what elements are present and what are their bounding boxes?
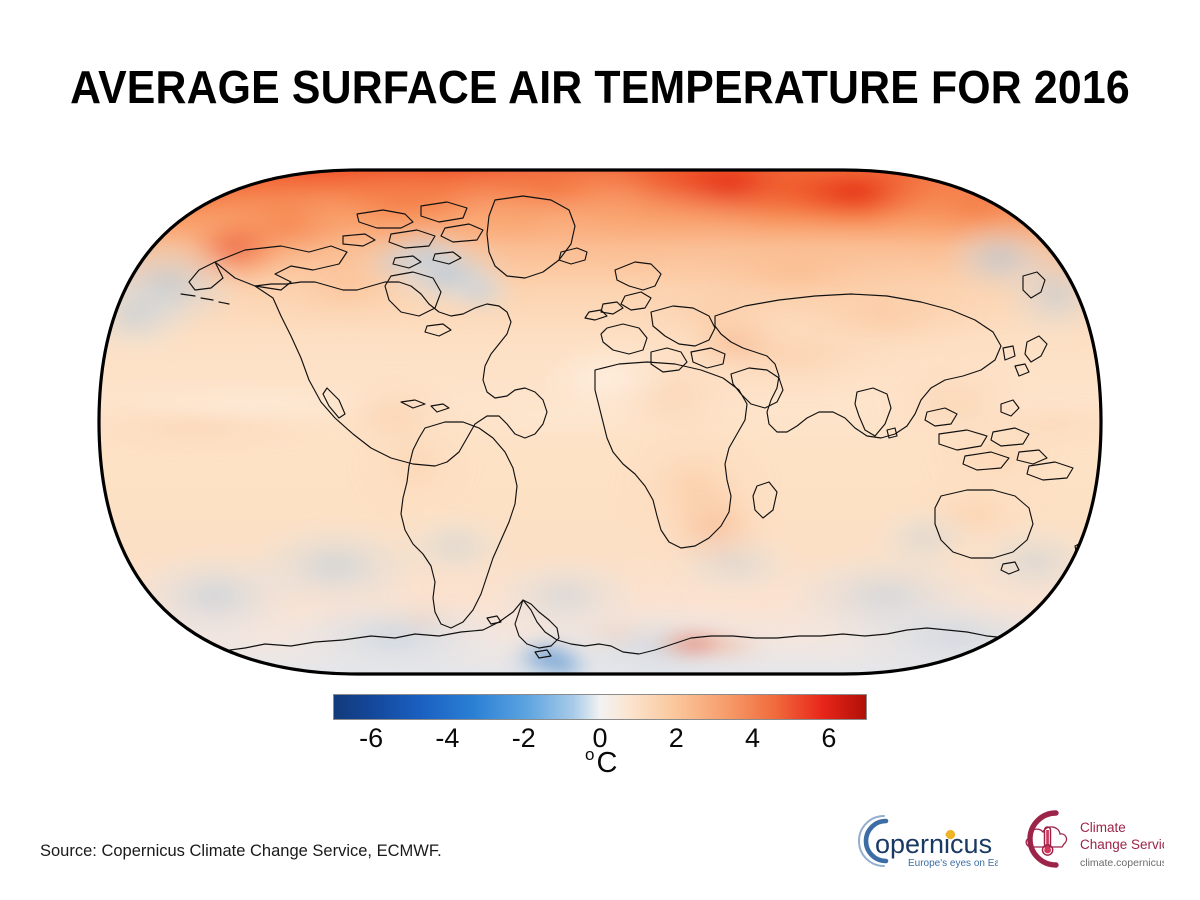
copernicus-dot-icon bbox=[946, 830, 955, 839]
degree-symbol: o bbox=[585, 745, 594, 764]
c3s-line2: Change Service bbox=[1080, 837, 1164, 852]
map-svg bbox=[95, 166, 1105, 678]
thermometer-bulb-icon bbox=[1044, 847, 1051, 854]
c3s-arc-icon bbox=[1030, 813, 1056, 865]
anomaly-blobs bbox=[95, 166, 1105, 678]
colorbar-gradient bbox=[333, 694, 867, 720]
colorbar-tick-0: -6 bbox=[359, 723, 383, 754]
c3s-url: climate.copernicus.eu bbox=[1080, 857, 1164, 869]
colorbar-tick-5: 4 bbox=[745, 723, 760, 754]
copernicus-logo-svg: opernicus Europe's eyes on Earth bbox=[846, 813, 998, 873]
page-title: AVERAGE SURFACE AIR TEMPERATURE FOR 2016 bbox=[42, 60, 1158, 114]
c3s-line1: Climate bbox=[1080, 820, 1126, 835]
climate-change-service-logo[interactable]: Climate Change Service climate.copernicu… bbox=[1012, 806, 1164, 874]
source-note: Source: Copernicus Climate Change Servic… bbox=[40, 842, 442, 861]
copernicus-tagline: Europe's eyes on Earth bbox=[908, 858, 998, 869]
colorbar-tick-4: 2 bbox=[669, 723, 684, 754]
unit-letter: C bbox=[596, 747, 617, 779]
colorbar: -6-4-20246 oC bbox=[333, 694, 867, 790]
c3s-logo-svg: Climate Change Service climate.copernicu… bbox=[1012, 806, 1164, 874]
copernicus-wordmark: opernicus bbox=[875, 829, 992, 859]
colorbar-tick-6: 6 bbox=[821, 723, 836, 754]
copernicus-logo[interactable]: opernicus Europe's eyes on Earth bbox=[846, 813, 998, 873]
colorbar-unit-label: oC bbox=[586, 744, 616, 773]
colorbar-tick-1: -4 bbox=[435, 723, 459, 754]
colorbar-tick-2: -2 bbox=[512, 723, 536, 754]
temperature-field bbox=[95, 166, 1105, 678]
world-temperature-map bbox=[95, 166, 1105, 678]
